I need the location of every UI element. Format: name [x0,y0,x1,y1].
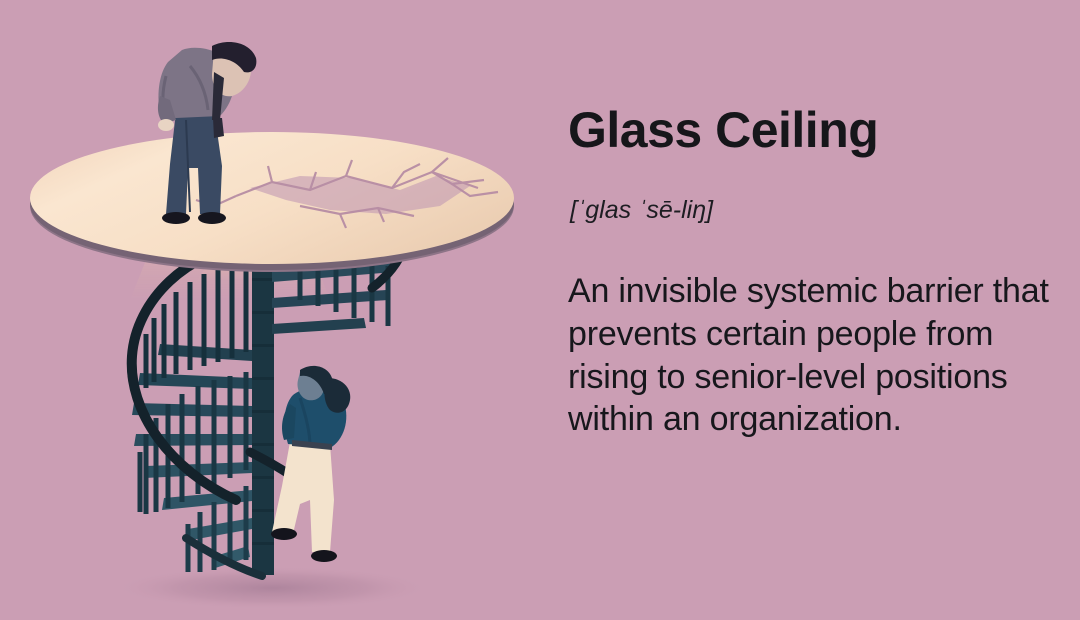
entry-pronunciation: [ˈglas ˈsē-liŋ] [570,196,713,225]
entry-definition: An invisible systemic barrier that preve… [568,270,1068,441]
entry-word: Glass Ceiling [568,104,878,157]
glass-ceiling-definition-card: Glass Ceiling [ˈglas ˈsē-liŋ] An invisib… [0,0,1080,620]
woman-shoe-front [311,550,337,562]
man-hand [158,119,174,131]
woman-shoe-back [271,528,297,540]
illustration-panel [0,0,545,620]
man-shoe-right [198,212,226,224]
glass-ceiling-disc [30,132,514,272]
man-shoe-left [162,212,190,224]
definition-text-panel: Glass Ceiling [ˈglas ˈsē-liŋ] An invisib… [568,0,1068,620]
